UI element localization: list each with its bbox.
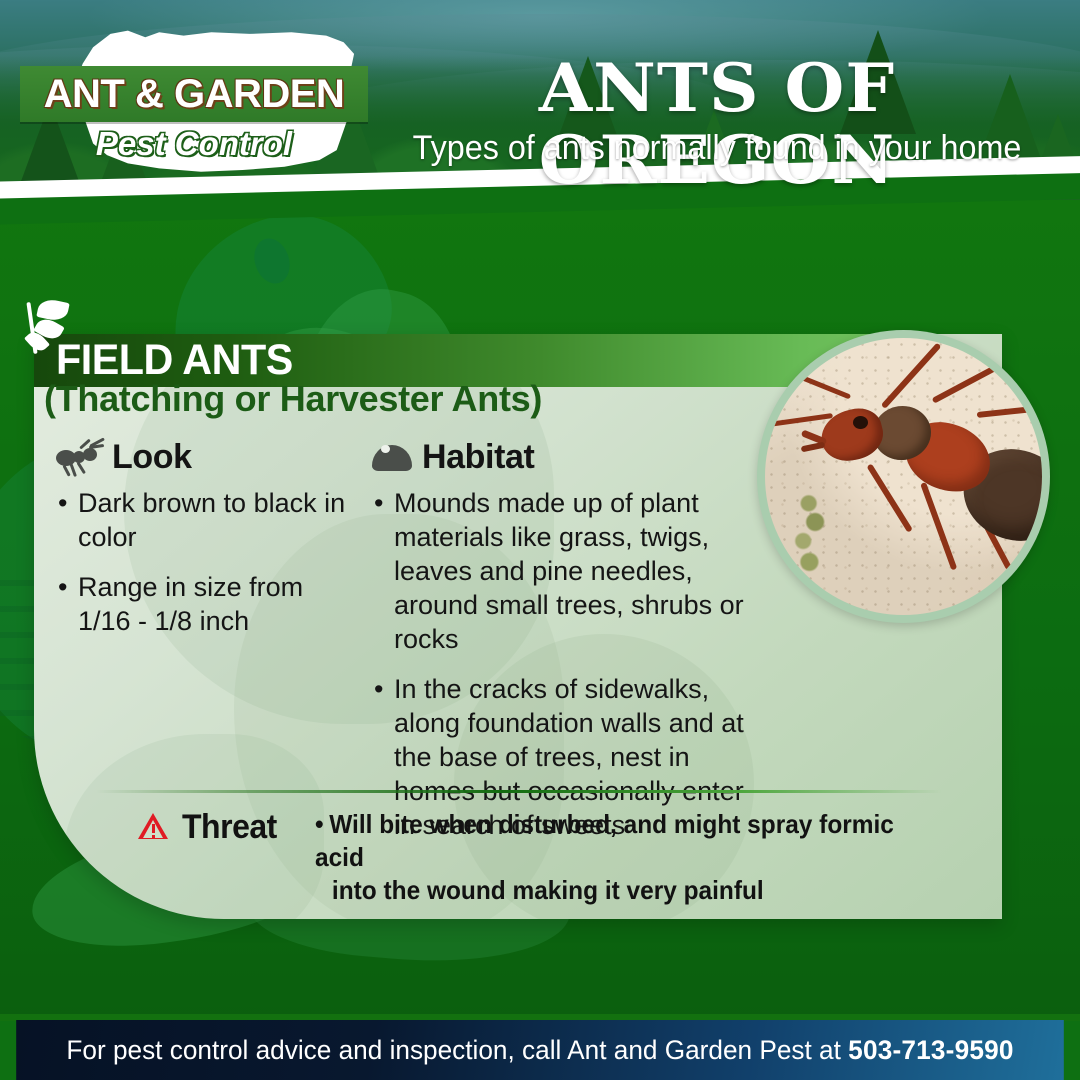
species-photo <box>765 338 1042 615</box>
page-title: ANTS OF OREGON <box>358 52 1076 124</box>
habitat-bullet-list: Mounds made up of plant materials like g… <box>372 486 772 842</box>
section-threat: Threat •Will bite when disturbed, and mi… <box>138 808 968 907</box>
look-bullet-list: Dark brown to black in color Range in si… <box>56 486 356 638</box>
warning-triangle-icon <box>138 813 168 841</box>
species-subtitle: (Thatching or Harvester Ants) <box>44 378 542 420</box>
page-subtitle: Types of ants normally found in your hom… <box>389 126 1045 170</box>
warning-exclamation-bar <box>152 824 155 833</box>
ant-icon-antenna <box>89 444 104 449</box>
list-item: Range in size from 1/16 - 1/8 inch <box>56 570 356 638</box>
list-item: Mounds made up of plant materials like g… <box>372 486 772 656</box>
threat-divider <box>96 790 942 793</box>
footer-bar: For pest control advice and inspection, … <box>16 1020 1064 1080</box>
mound-icon-highlight <box>381 445 390 453</box>
species-photo-frame <box>757 330 1050 623</box>
threat-line-2: into the wound making it very painful <box>332 874 929 907</box>
mound-icon <box>372 442 412 472</box>
section-label-threat: Threat <box>182 808 277 847</box>
ant-icon <box>56 442 102 472</box>
threat-bullet: • <box>315 809 324 839</box>
mound-icon-shape <box>372 445 412 471</box>
threat-text: •Will bite when disturbed, and might spr… <box>315 808 929 907</box>
ant-icon-head <box>83 448 97 461</box>
ant-icon-leg <box>77 462 86 474</box>
warning-exclamation-dot <box>152 835 155 838</box>
section-label-habitat: Habitat <box>422 438 534 477</box>
section-header: Look <box>56 436 356 478</box>
list-item: Dark brown to black in color <box>56 486 356 554</box>
brand-logo[interactable]: ANT & GARDEN Pest Control <box>20 14 368 180</box>
section-look: Look Dark brown to black in color Range … <box>56 436 356 654</box>
section-habitat: Habitat Mounds made up of plant material… <box>372 436 772 858</box>
footer-phone[interactable]: 503-713-9590 <box>848 1035 1013 1065</box>
ant-icon-leg <box>70 463 77 477</box>
section-header: Habitat <box>372 436 772 478</box>
photo-ant-eye <box>853 416 868 429</box>
brand-name: ANT & GARDEN <box>20 68 368 120</box>
leaf-sprig-icon <box>24 298 76 354</box>
section-label-look: Look <box>112 438 192 477</box>
infographic-poster: ANT & GARDEN Pest Control ANTS OF OREGON… <box>0 0 1080 1080</box>
ant-icon-leg <box>63 465 71 477</box>
brand-tagline: Pest Control <box>20 122 368 166</box>
footer-text: For pest control advice and inspection, … <box>66 1035 841 1065</box>
threat-line-1: Will bite when disturbed, and might spra… <box>315 809 894 872</box>
